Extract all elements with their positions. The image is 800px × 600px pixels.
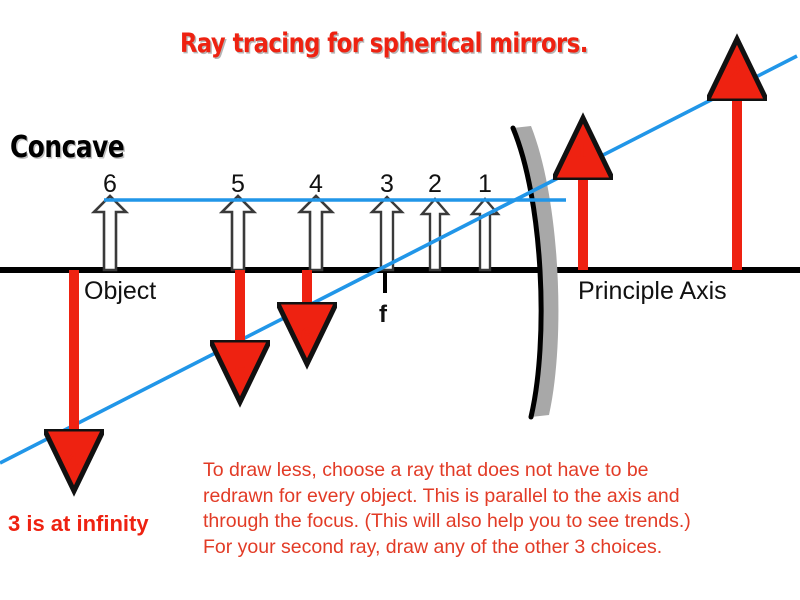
object-number-2: 2 — [428, 172, 442, 197]
object-number-1: 1 — [478, 172, 492, 197]
object-number-4: 4 — [309, 172, 323, 197]
instruction-note: To draw less, choose a ray that does not… — [203, 458, 723, 560]
object-label: Object — [84, 279, 156, 304]
ray-number-5: 5 — [234, 363, 246, 385]
focal-length-label: f — [379, 303, 387, 327]
ray-number-1: 1 — [575, 141, 587, 163]
mirror-type-label: Concave — [10, 133, 124, 163]
instruction-line-1: To draw less, choose a ray that does not… — [203, 458, 723, 484]
object-number-5: 5 — [231, 172, 245, 197]
instruction-line-2: redrawn for every object. This is parall… — [203, 484, 723, 510]
object-arrow-6 — [94, 196, 126, 270]
object-arrow-5 — [222, 196, 254, 270]
page-title: Ray tracing for spherical mirrors. — [180, 30, 588, 57]
infinity-note: 3 is at infinity — [8, 513, 149, 535]
ray-number-4: 4 — [66, 450, 78, 472]
ray-tracing-diagram: Ray tracing for spherical mirrors. Conca… — [0, 0, 800, 600]
object-arrow-4 — [300, 196, 332, 270]
ray-number-2: 2 — [729, 62, 741, 84]
object-number-6: 6 — [103, 172, 117, 197]
principal-axis-label: Principle Axis — [578, 279, 727, 304]
instruction-line-4: For your second ray, draw any of the oth… — [203, 535, 723, 561]
object-number-3: 3 — [380, 172, 394, 197]
ray-number-6: 6 — [301, 325, 313, 347]
instruction-line-3: through the focus. (This will also help … — [203, 509, 723, 535]
blue-diagonal-ray — [0, 56, 797, 463]
